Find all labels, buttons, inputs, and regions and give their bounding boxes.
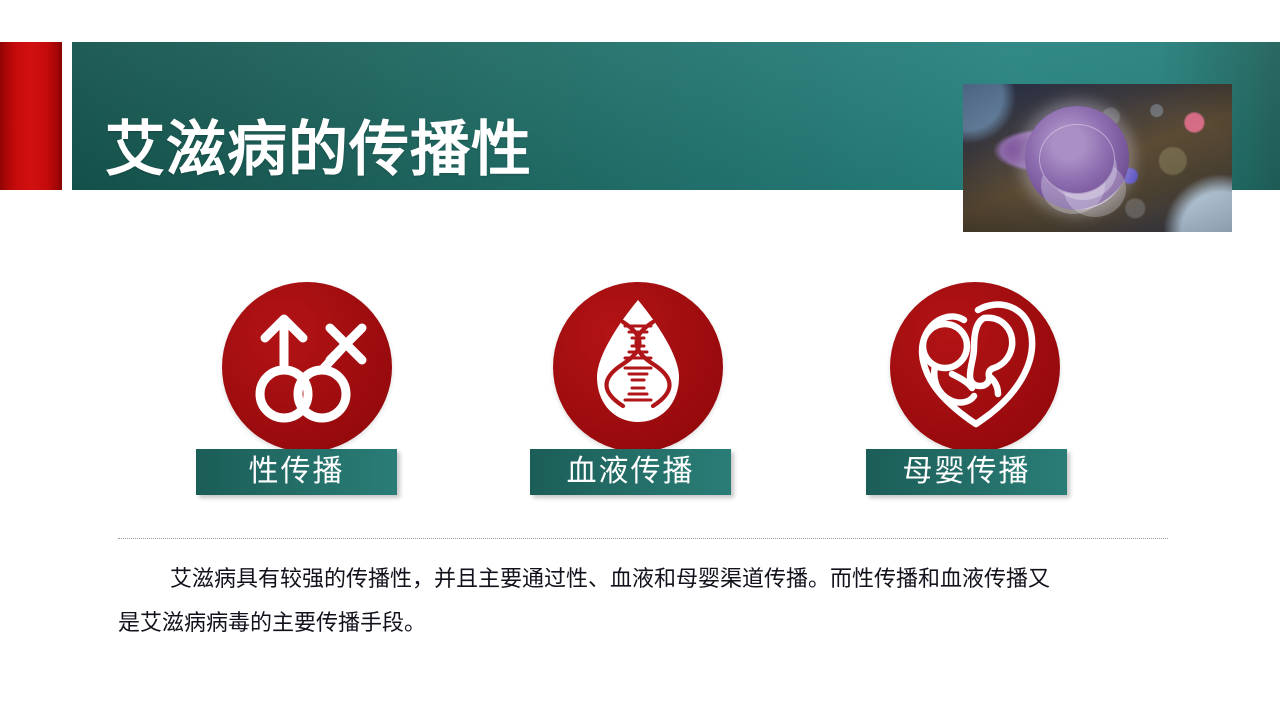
transmission-label-box-sexual: 性传播: [196, 449, 397, 495]
transmission-route-blood[interactable]: 血液传播: [544, 282, 731, 495]
mother-and-baby-heart-icon: [890, 282, 1060, 452]
hiv-cell-micrograph-image: [963, 84, 1232, 232]
transmission-label-sexual: 性传播: [249, 456, 345, 488]
transmission-label-blood: 血液传播: [567, 456, 695, 488]
body-text-line-1: 艾滋病具有较强的传播性，并且主要通过性、血液和母婴渠道传播。而性传播和血液传播又: [170, 567, 1050, 592]
transmission-route-mother-to-child[interactable]: 母婴传播: [882, 282, 1067, 495]
header-band: 艾滋病的传播性: [0, 42, 1280, 190]
body-paragraph: 艾滋病具有较强的传播性，并且主要通过性、血液和母婴渠道传播。而性传播和血液传播又…: [118, 558, 1173, 646]
transmission-label-box-blood: 血液传播: [530, 449, 731, 495]
red-accent-block: [0, 42, 62, 190]
slide-canvas: 艾滋病的传播性: [0, 0, 1280, 720]
horizontal-divider: [118, 538, 1168, 539]
transmission-route-sexual[interactable]: 性传播: [216, 282, 397, 495]
transmission-label-box-mother-to-child: 母婴传播: [866, 449, 1067, 495]
body-text-line-2: 是艾滋病病毒的主要传播手段。: [118, 611, 426, 636]
transmission-label-mother-to-child: 母婴传播: [903, 456, 1031, 488]
blood-drop-dna-icon: [553, 282, 723, 452]
page-title: 艾滋病的传播性: [105, 118, 532, 182]
image-vignette: [963, 84, 1232, 232]
male-female-gender-symbols-icon: [222, 282, 392, 452]
